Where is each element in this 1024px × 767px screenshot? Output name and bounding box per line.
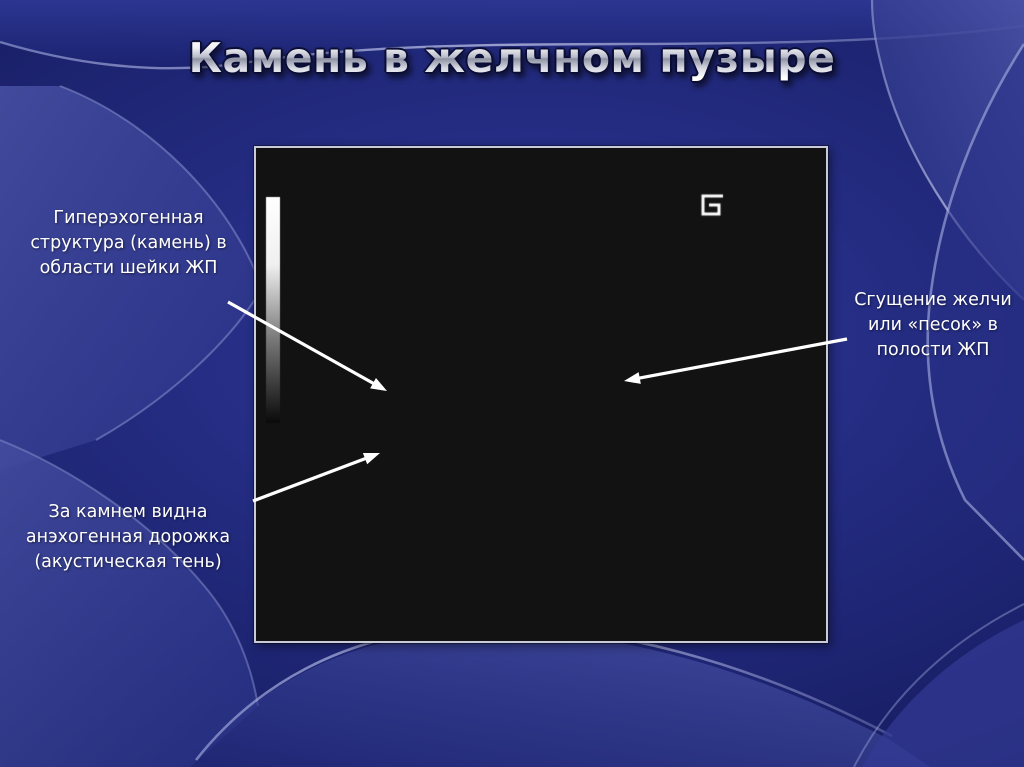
slide-canvas: Камень в желчном пузыре Гиперэхогенная с… bbox=[0, 0, 1024, 767]
annotation-acoustic-shadow-label: За камнем видна анэхогенная дорожка (аку… bbox=[0, 500, 256, 575]
page-title: Камень в желчном пузыре bbox=[189, 34, 836, 82]
ultrasound-scan-image bbox=[256, 148, 826, 641]
slide-title-container: Камень в желчном пузыре bbox=[0, 34, 1024, 82]
annotation-stone-label: Гиперэхогенная структура (камень) в обла… bbox=[6, 206, 251, 281]
ultrasound-image-panel bbox=[254, 146, 828, 643]
annotation-sludge-label: Сгущение желчи или «песок» в полости ЖП bbox=[846, 288, 1020, 363]
